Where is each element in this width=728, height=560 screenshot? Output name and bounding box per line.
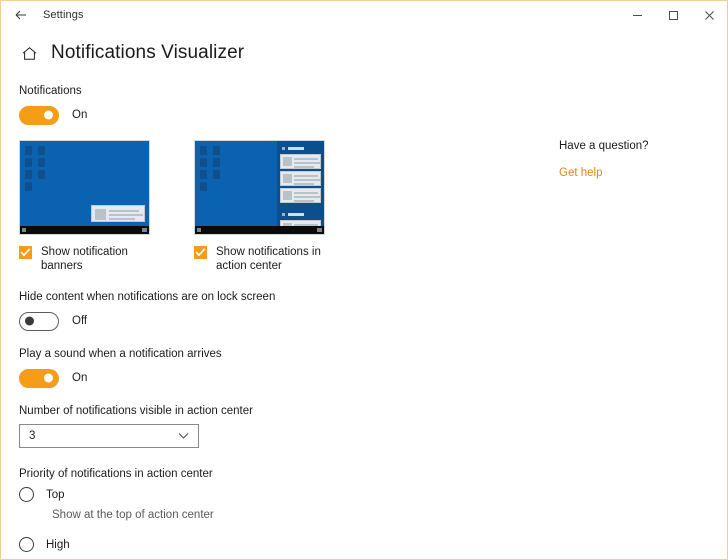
content-area: Notifications On — [1, 67, 727, 560]
desktop-icon — [25, 182, 32, 191]
toggle-knob — [44, 111, 53, 120]
notification-thumbnail — [283, 191, 292, 200]
desktop-icon — [213, 146, 220, 155]
start-button-icon — [197, 228, 201, 232]
page-header: Notifications Visualizer — [1, 29, 727, 67]
back-button[interactable] — [1, 1, 41, 29]
settings-main-column: Notifications On — [1, 67, 521, 560]
desktop-icon — [38, 146, 45, 155]
notifications-label: Notifications — [19, 85, 521, 97]
notification-banner-preview: Show notification banners — [19, 140, 173, 273]
minimize-icon — [632, 10, 643, 21]
system-tray-icon — [142, 228, 147, 232]
priority-label: Priority of notifications in action cent… — [19, 468, 521, 480]
play-sound-section: Play a sound when a notification arrives… — [19, 348, 521, 389]
toast-banner — [91, 205, 145, 222]
notification-thumbnail — [283, 157, 292, 166]
play-sound-label: Play a sound when a notification arrives — [19, 348, 521, 360]
show-banners-label: Show notification banners — [41, 245, 163, 273]
app-title: Settings — [41, 9, 84, 21]
visible-count-value: 3 — [20, 430, 35, 442]
visible-count-label: Number of notifications visible in actio… — [19, 405, 521, 417]
start-button-icon — [22, 228, 26, 232]
spacer — [19, 332, 521, 348]
priority-option-top[interactable]: Top — [19, 487, 521, 502]
notifications-toggle-row: On — [19, 104, 521, 126]
play-sound-toggle-state: On — [72, 372, 87, 384]
notification-card — [280, 188, 321, 203]
radio-high-label: High — [46, 539, 70, 551]
radio-top-description: Show at the top of action center — [52, 509, 521, 521]
taskbar — [20, 226, 149, 234]
desktop-icon — [25, 158, 32, 167]
show-banners-checkbox[interactable] — [19, 246, 32, 259]
app-name-placeholder — [288, 147, 304, 150]
notifications-toggle-state: On — [72, 109, 87, 121]
action-center-group-header — [280, 144, 321, 153]
taskbar — [195, 226, 324, 234]
notification-line — [294, 196, 321, 198]
notifications-toggle[interactable] — [19, 106, 59, 125]
notification-line — [294, 183, 314, 185]
notification-card — [280, 154, 321, 169]
spacer — [19, 521, 521, 535]
get-help-link[interactable]: Get help — [559, 167, 602, 179]
toast-line — [109, 214, 143, 216]
priority-section: Priority of notifications in action cent… — [19, 468, 521, 560]
notifications-section: Notifications On — [19, 85, 521, 126]
toast-line — [109, 210, 139, 212]
banner-preview-image — [19, 140, 150, 235]
preview-row: Show notification banners — [19, 140, 521, 273]
hide-content-toggle-state: Off — [72, 315, 87, 327]
toast-thumbnail — [95, 209, 106, 220]
radio-high[interactable] — [19, 537, 34, 552]
show-banners-checkbox-row[interactable]: Show notification banners — [19, 245, 173, 273]
desktop-icon — [25, 146, 32, 155]
toast-line — [109, 218, 135, 220]
close-icon — [704, 10, 715, 21]
app-icon — [282, 213, 285, 216]
back-arrow-icon — [14, 8, 28, 22]
desktop-icon — [200, 146, 207, 155]
spacer — [19, 389, 521, 405]
desktop-icon — [25, 170, 32, 179]
notification-line — [294, 175, 318, 177]
hide-content-section: Hide content when notifications are on l… — [19, 291, 521, 332]
hide-content-toggle-row: Off — [19, 310, 521, 332]
action-center-panel — [277, 141, 324, 226]
radio-top-label: Top — [46, 489, 65, 501]
toggle-knob — [25, 317, 34, 326]
settings-window: Settings — [0, 0, 728, 560]
page-title: Notifications Visualizer — [51, 42, 244, 64]
notification-line — [294, 166, 314, 168]
hide-content-toggle[interactable] — [19, 312, 59, 331]
title-bar: Settings — [1, 1, 727, 29]
notification-line — [294, 192, 318, 194]
hide-content-label: Hide content when notifications are on l… — [19, 291, 521, 303]
desktop-icon — [200, 158, 207, 167]
play-sound-toggle-row: On — [19, 367, 521, 389]
action-center-preview: Show notifications in action center — [194, 140, 348, 273]
notification-line — [294, 162, 321, 164]
close-button[interactable] — [691, 1, 727, 29]
maximize-button[interactable] — [655, 1, 691, 29]
desktop-icon — [200, 170, 207, 179]
action-center-group-header — [280, 210, 321, 219]
desktop-icon — [38, 158, 45, 167]
help-panel: Have a question? Get help — [559, 140, 719, 181]
toggle-knob — [44, 374, 53, 383]
priority-option-high[interactable]: High — [19, 537, 521, 552]
desktop-icon — [38, 170, 45, 179]
minimize-button[interactable] — [619, 1, 655, 29]
window-controls — [619, 1, 727, 29]
home-icon[interactable] — [19, 43, 39, 63]
show-in-action-center-label: Show notifications in action center — [216, 245, 338, 273]
spacer — [19, 273, 521, 291]
visible-count-select[interactable]: 3 — [19, 424, 199, 448]
play-sound-toggle[interactable] — [19, 369, 59, 388]
desktop-icon — [213, 170, 220, 179]
notification-card — [280, 171, 321, 186]
show-in-action-center-checkbox-row[interactable]: Show notifications in action center — [194, 245, 348, 273]
notification-line — [294, 179, 321, 181]
desktop-icon — [213, 158, 220, 167]
show-in-action-center-checkbox[interactable] — [194, 246, 207, 259]
visible-count-section: Number of notifications visible in actio… — [19, 405, 521, 448]
app-name-placeholder — [288, 213, 304, 216]
notification-line — [294, 158, 318, 160]
app-icon — [282, 147, 285, 150]
action-center-preview-image — [194, 140, 325, 235]
notification-thumbnail — [283, 174, 292, 183]
chevron-down-icon — [178, 432, 189, 440]
system-tray-icon — [317, 228, 322, 232]
radio-top[interactable] — [19, 487, 34, 502]
help-title: Have a question? — [559, 140, 719, 152]
maximize-icon — [668, 10, 679, 21]
notification-line — [294, 200, 314, 202]
spacer — [19, 448, 521, 468]
desktop-icon — [200, 182, 207, 191]
